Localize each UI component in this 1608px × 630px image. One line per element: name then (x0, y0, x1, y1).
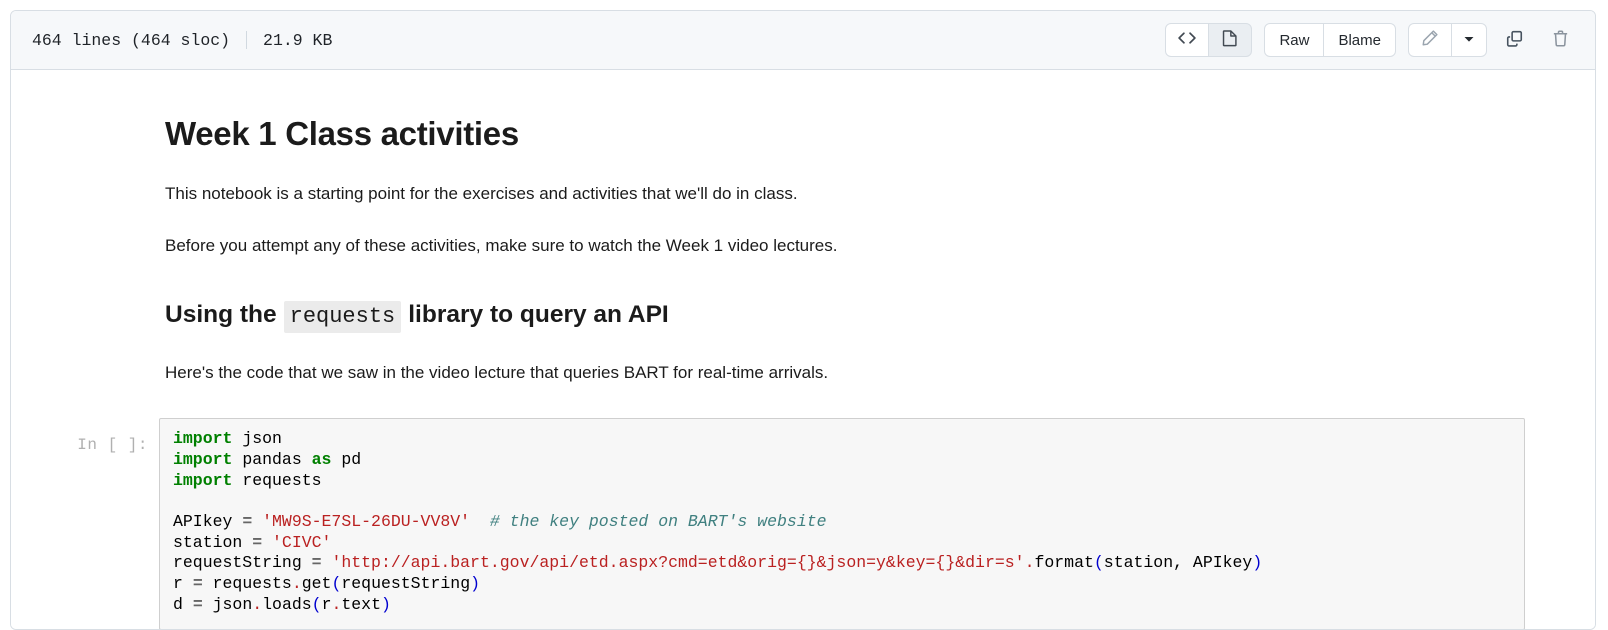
code-cell[interactable]: In [ ]: import json import pandas as pd … (11, 418, 1595, 630)
code-content: import json import pandas as pd import r… (173, 429, 1516, 615)
edit-button[interactable] (1408, 23, 1452, 57)
meta-divider (246, 31, 247, 49)
file-view-container: 464 lines (464 sloc) 21.9 KB (10, 10, 1596, 630)
notebook-body: Week 1 Class activities This notebook is… (11, 114, 1595, 630)
raw-button[interactable]: Raw (1264, 23, 1324, 57)
intro-paragraph-2: Before you attempt any of these activiti… (165, 234, 1535, 259)
code-icon (1178, 29, 1196, 51)
edit-dropdown-button[interactable] (1451, 23, 1487, 57)
file-actions-toolbar: Raw Blame (1153, 23, 1579, 57)
file-header-bar: 464 lines (464 sloc) 21.9 KB (11, 11, 1595, 70)
section-paragraph: Here's the code that we saw in the video… (165, 361, 1535, 386)
intro-paragraph-1: This notebook is a starting point for th… (165, 182, 1535, 207)
code-view-button[interactable] (1165, 23, 1209, 57)
view-toggle-group (1165, 23, 1252, 57)
page-title: Week 1 Class activities (165, 114, 1535, 154)
raw-blame-group: Raw Blame (1264, 23, 1396, 57)
section-heading-suffix: library to query an API (408, 299, 669, 331)
code-editor-area[interactable]: import json import pandas as pd import r… (159, 418, 1525, 630)
delete-button[interactable] (1541, 23, 1579, 57)
section-heading: Using the requests library to query an A… (165, 299, 1535, 334)
markdown-cell: Week 1 Class activities This notebook is… (11, 114, 1595, 386)
file-metadata: 464 lines (464 sloc) 21.9 KB (32, 31, 332, 50)
inline-code-requests: requests (284, 301, 402, 334)
pencil-icon (1421, 29, 1439, 51)
cell-input-prompt: In [ ]: (11, 418, 159, 454)
file-size: 21.9 KB (263, 31, 332, 50)
file-lines-count: 464 lines (464 sloc) (32, 31, 230, 50)
edit-group (1408, 23, 1487, 57)
file-icon (1221, 29, 1239, 51)
blame-button[interactable]: Blame (1323, 23, 1396, 57)
section-heading-prefix: Using the (165, 299, 277, 331)
copy-icon (1505, 29, 1524, 51)
preview-view-button[interactable] (1208, 23, 1252, 57)
chevron-down-icon (1463, 32, 1475, 49)
copy-button[interactable] (1495, 23, 1533, 57)
trash-icon (1551, 29, 1570, 51)
